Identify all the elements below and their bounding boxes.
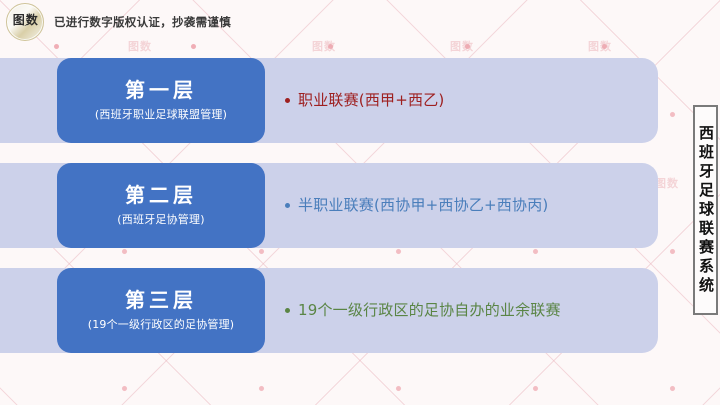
certification-bar: 图·数 已进行数字版权认证，抄袭需谨慎	[0, 0, 720, 44]
tier-box[interactable]: 第一层 (西班牙职业足球联盟管理)	[57, 58, 265, 143]
tier-subtitle: (西班牙足协管理)	[117, 213, 204, 227]
tier-box[interactable]: 第三层 (19个一级行政区的足协管理)	[57, 268, 265, 353]
tier-title: 第三层	[125, 288, 197, 313]
copyright-badge-icon: 图·数	[6, 3, 44, 41]
certification-text: 已进行数字版权认证，抄袭需谨慎	[54, 14, 231, 30]
vertical-title-text: 西班牙足球联赛系统	[698, 125, 713, 296]
tier-title: 第二层	[125, 183, 197, 208]
bullet-icon	[285, 308, 290, 313]
tier-row: 第一层 (西班牙职业足球联盟管理) 职业联赛(西甲+西乙)	[0, 58, 658, 143]
badge-char-main: 图	[13, 13, 25, 27]
vertical-title-box: 西班牙足球联赛系统	[693, 105, 718, 315]
tier-description: 19个一级行政区的足协自办的业余联赛	[285, 268, 653, 353]
tier-description-text: 19个一级行政区的足协自办的业余联赛	[298, 301, 561, 321]
tier-description-text: 职业联赛(西甲+西乙)	[298, 91, 444, 111]
tier-title: 第一层	[125, 78, 197, 103]
tier-row: 第二层 (西班牙足协管理) 半职业联赛(西协甲+西协乙+西协丙)	[0, 163, 658, 248]
bullet-icon	[285, 203, 290, 208]
tier-row: 第三层 (19个一级行政区的足协管理) 19个一级行政区的足协自办的业余联赛	[0, 268, 658, 353]
slide-canvas: 图数 图数 图数 图数 图数 图数 图数 图数 图数 图·数 已进行数字版权认证…	[0, 0, 720, 405]
bullet-icon	[285, 98, 290, 103]
tier-description-text: 半职业联赛(西协甲+西协乙+西协丙)	[298, 196, 548, 216]
tier-subtitle: (19个一级行政区的足协管理)	[88, 318, 235, 332]
tier-description: 半职业联赛(西协甲+西协乙+西协丙)	[285, 163, 653, 248]
tier-subtitle: (西班牙职业足球联盟管理)	[95, 108, 227, 122]
badge-label: 图·数	[13, 14, 37, 29]
tier-description: 职业联赛(西甲+西乙)	[285, 58, 653, 143]
tier-rows: 第一层 (西班牙职业足球联盟管理) 职业联赛(西甲+西乙) 第二层 (西班牙足协…	[0, 0, 720, 405]
badge-char-second: 数	[26, 13, 38, 27]
tier-box[interactable]: 第二层 (西班牙足协管理)	[57, 163, 265, 248]
